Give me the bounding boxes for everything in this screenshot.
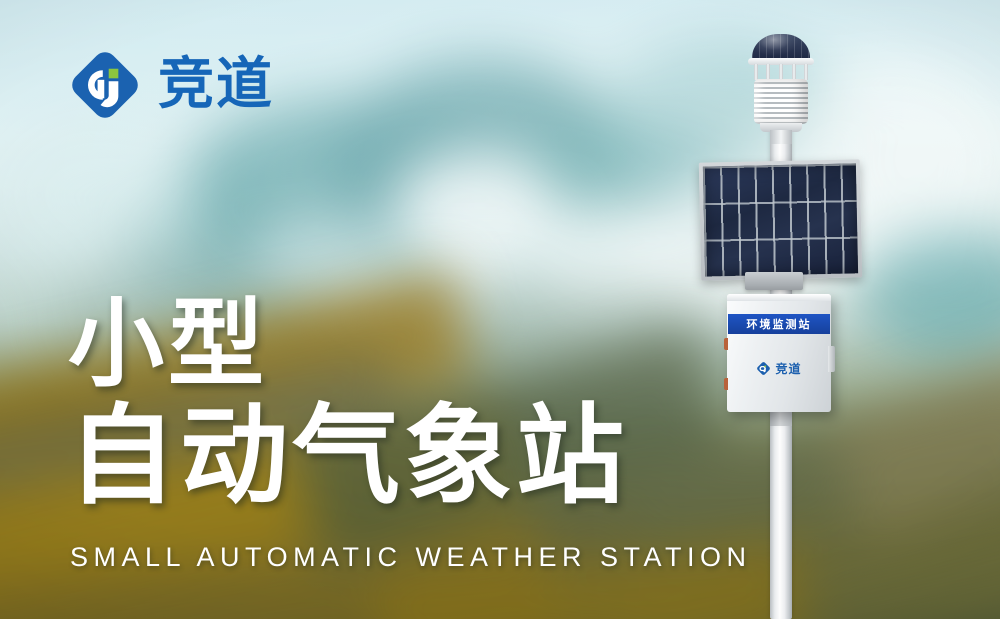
jingdao-diamond-logo-icon	[756, 361, 771, 376]
promo-banner: 环境监测站 竞道 竞道	[0, 0, 1000, 619]
louvered-radiation-shield	[754, 79, 808, 124]
enclosure-brand-name: 竞道	[775, 360, 801, 377]
sensor-posts	[754, 64, 808, 80]
brand-lockup: 竞道	[68, 48, 274, 122]
enclosure-brand-lockup: 竞道	[727, 360, 831, 377]
subtitle: SMALL AUTOMATIC WEATHER STATION	[70, 542, 752, 573]
jingdao-diamond-logo-icon	[68, 48, 142, 122]
control-enclosure-box: 环境监测站 竞道	[727, 294, 831, 412]
headline-line-1: 小型	[68, 296, 708, 394]
solar-panel-cells	[703, 163, 858, 276]
enclosure-latch	[828, 346, 835, 372]
solar-panel-bracket	[745, 272, 803, 290]
headline-block: 小型 自动气象站	[68, 296, 708, 512]
headline-line-2: 自动气象站	[68, 402, 708, 512]
enclosure-hinge-lower	[724, 378, 728, 390]
brand-name: 竞道	[158, 57, 274, 113]
enclosure-hinge-upper	[724, 338, 728, 350]
enclosure-banner: 环境监测站	[728, 314, 830, 334]
enclosure-banner-label: 环境监测站	[747, 316, 812, 332]
pole-joint	[770, 410, 792, 426]
enclosure-top-edge	[727, 294, 831, 301]
solar-panel	[699, 159, 862, 280]
ultrasonic-weather-sensor-icon	[744, 34, 818, 140]
sensor-neck	[770, 130, 792, 144]
